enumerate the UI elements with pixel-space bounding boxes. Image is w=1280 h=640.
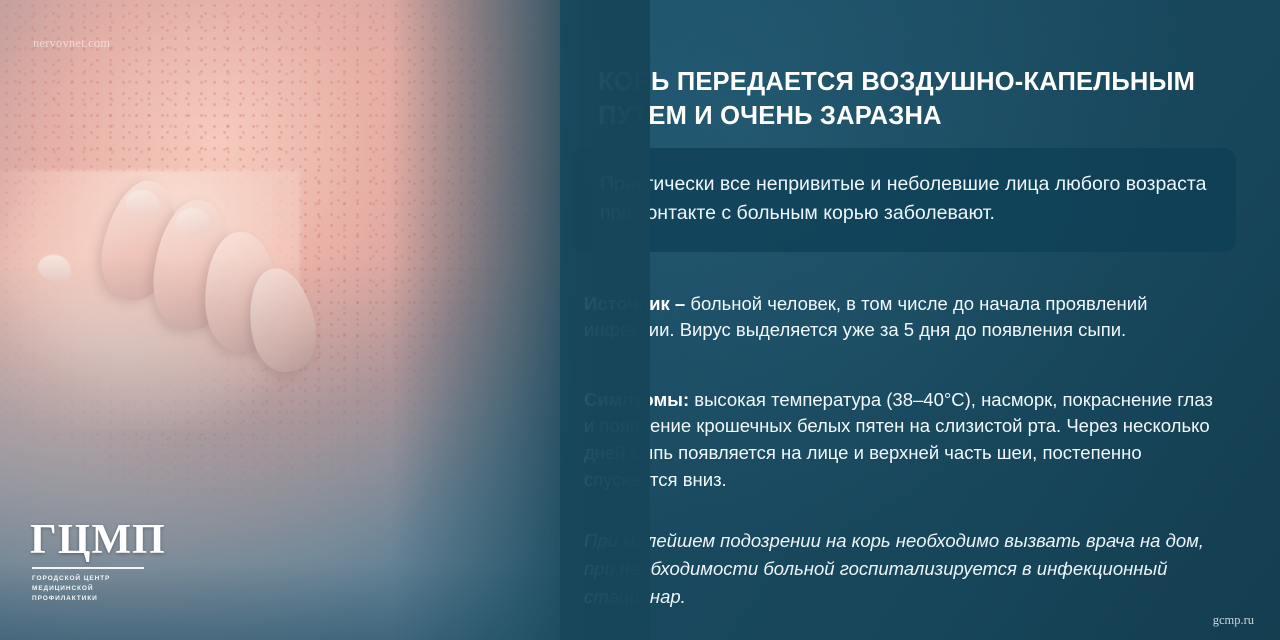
source-paragraph: Источник – больной человек, в том числе … [584, 291, 1220, 345]
symptoms-paragraph: Симптомы: высокая температура (38–40°C),… [584, 387, 1220, 494]
logo-wordmark: ГЦМП [30, 519, 166, 561]
photo-panel-blend [390, 0, 650, 640]
logo-subtitle-line: МЕДИЦИНСКОЙ [32, 584, 166, 594]
organization-logo: ГЦМП ГОРОДСКОЙ ЦЕНТР МЕДИЦИНСКОЙ ПРОФИЛА… [30, 519, 166, 604]
image-watermark: nervovnet.com [33, 36, 110, 51]
logo-subtitle-line: ПРОФИЛАКТИКИ [32, 594, 166, 604]
callout-text: Практически все непривитые и неболевшие … [600, 173, 1206, 224]
logo-subtitle: ГОРОДСКОЙ ЦЕНТР МЕДИЦИНСКОЙ ПРОФИЛАКТИКИ [32, 574, 166, 604]
infographic-slide: КОРЬ ПЕРЕДАЕТСЯ ВОЗДУШНО-КАПЕЛЬНЫМ ПУТЕМ… [0, 0, 1280, 640]
logo-divider [32, 567, 144, 569]
logo-subtitle-line: ГОРОДСКОЙ ЦЕНТР [32, 574, 166, 584]
site-url: gcmp.ru [1213, 613, 1254, 628]
note-paragraph: При малейшем подозрении на корь необходи… [584, 527, 1220, 611]
text-panel: КОРЬ ПЕРЕДАЕТСЯ ВОЗДУШНО-КАПЕЛЬНЫМ ПУТЕМ… [560, 0, 1280, 640]
callout-box: Практически все непривитые и неболевшие … [572, 148, 1236, 252]
page-title: КОРЬ ПЕРЕДАЕТСЯ ВОЗДУШНО-КАПЕЛЬНЫМ ПУТЕМ… [598, 65, 1208, 133]
